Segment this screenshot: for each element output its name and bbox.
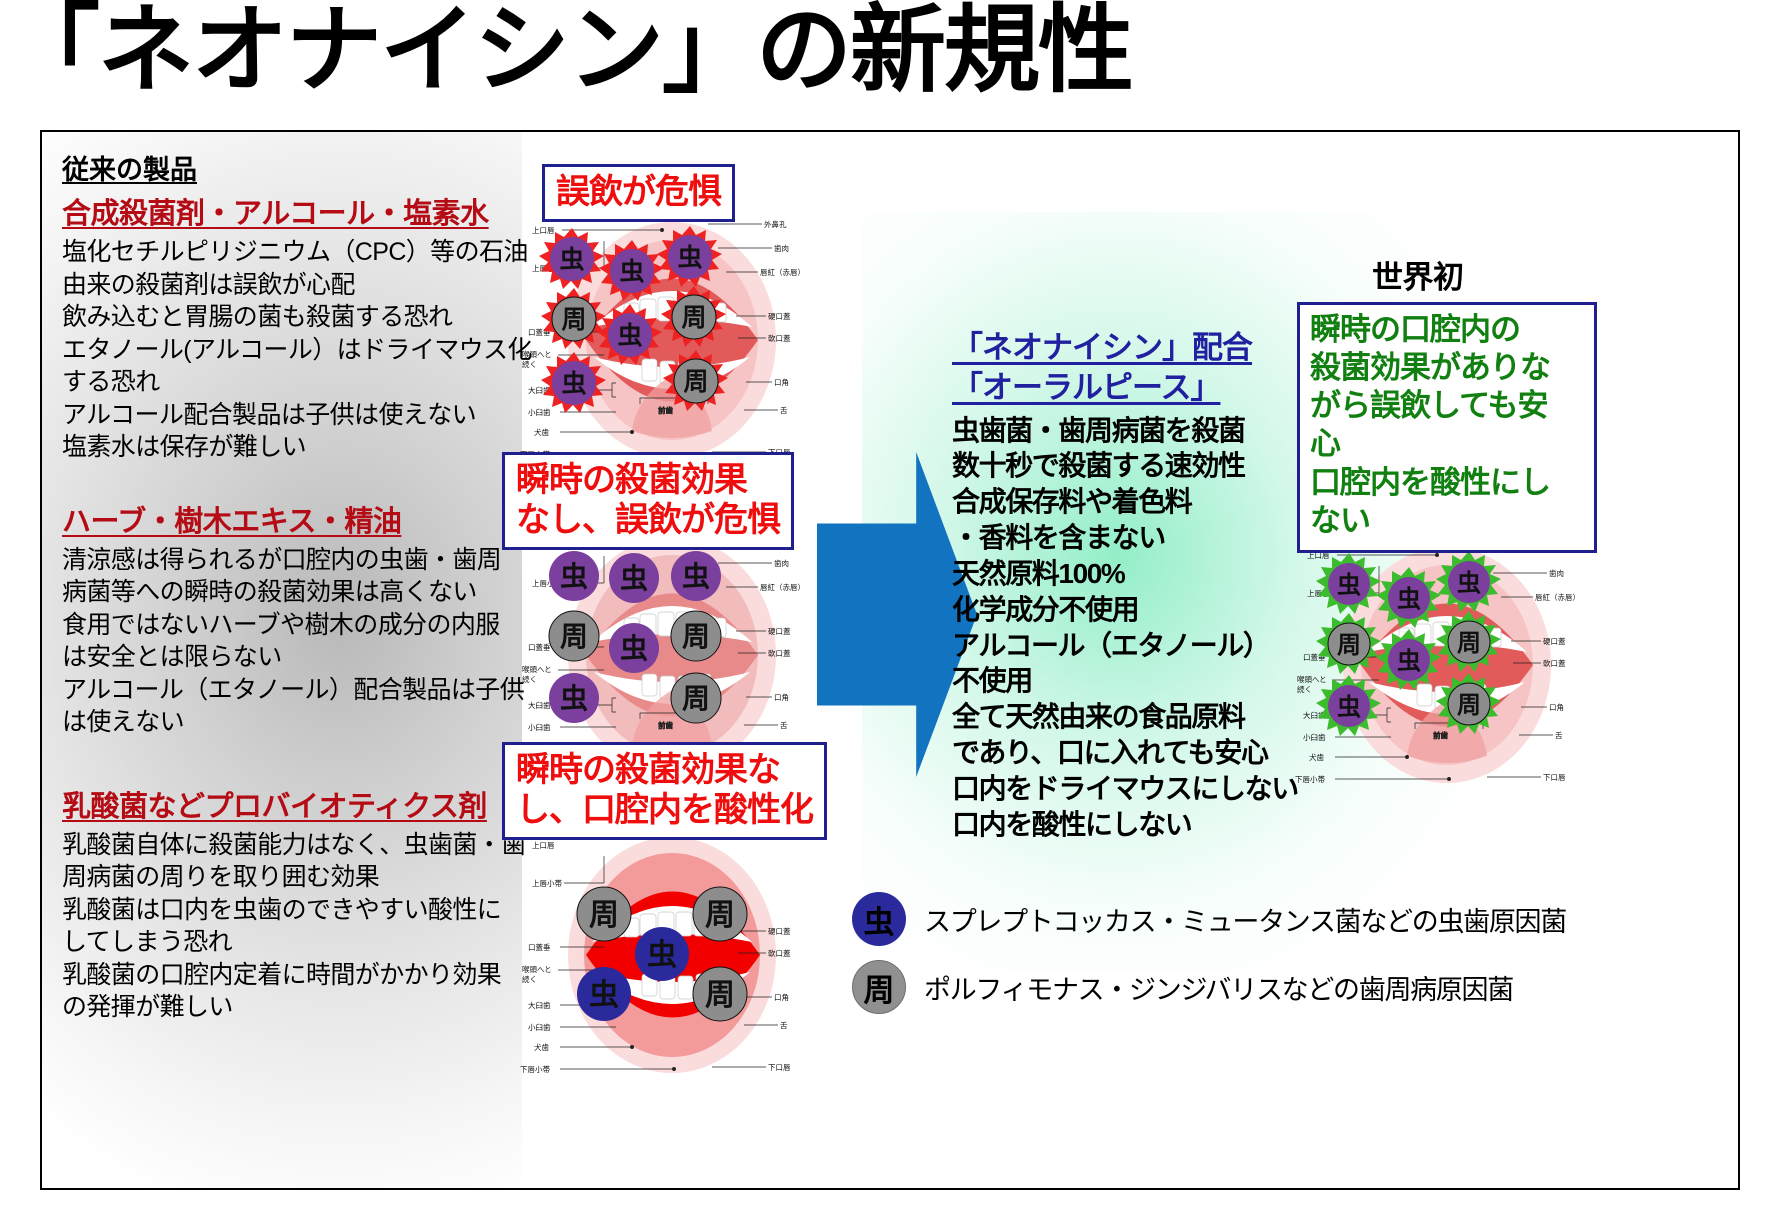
body-line: 乳酸菌は口内を虫歯のできやすい酸性に: [62, 894, 512, 927]
svg-text:硬口蓋: 硬口蓋: [768, 311, 791, 321]
svg-text:口角: 口角: [1549, 702, 1564, 712]
body-line: は安全とは限らない: [62, 641, 512, 674]
germ-shu: 周: [693, 887, 747, 941]
svg-text:唇紅（赤唇）: 唇紅（赤唇）: [760, 267, 802, 277]
svg-text:歯肉: 歯肉: [774, 558, 789, 568]
mouth-svg: 上口唇 上唇小帯 口蓋垂 喉頭へと 続く 大臼歯 小臼歯 犬歯 下唇小帯 外鼻孔…: [512, 207, 802, 472]
legend: 虫 スプレプトコッカス・ミュータンス菌などの虫歯原因菌 周 ポルフィモナス・ジン…: [852, 892, 1566, 1028]
body-line: してしまう恐れ: [62, 926, 512, 959]
svg-text:周: 周: [1337, 632, 1361, 659]
svg-text:小臼歯: 小臼歯: [528, 1022, 551, 1032]
conventional-products-column: 従来の製品 合成殺菌剤・アルコール・塩素水 塩化セチルピリジニウム（CPC）等の…: [62, 148, 512, 1024]
body-line: 瞬時の口腔内の: [1310, 311, 1586, 349]
svg-text:虫: 虫: [559, 246, 584, 274]
svg-text:下口唇: 下口唇: [1543, 773, 1566, 782]
body-line: 心: [1310, 425, 1586, 463]
svg-text:軟口蓋: 軟口蓋: [768, 648, 791, 658]
legend-label: ポルフィモナス・ジンジバリスなどの歯周病原因菌: [924, 968, 1513, 1007]
callout-no-instant-effect-ingestion-risk: 瞬時の殺菌効果 なし、誤飲が危惧: [502, 452, 794, 550]
body-line: 食用ではないハーブや樹木の成分の内服: [62, 609, 512, 642]
svg-text:周: 周: [681, 304, 706, 332]
svg-text:歯肉: 歯肉: [1549, 568, 1564, 578]
legend-item-shu: 周 ポルフィモナス・ジンジバリスなどの歯周病原因菌: [852, 960, 1566, 1014]
spacer: [62, 739, 512, 783]
svg-text:周: 周: [560, 621, 588, 652]
svg-text:口蓋垂: 口蓋垂: [528, 942, 551, 952]
svg-text:虫: 虫: [1337, 571, 1361, 599]
body-line: 清涼感は得られるが口腔内の虫歯・歯周: [62, 544, 512, 577]
group-body-probiotics: 乳酸菌自体に殺菌能力はなく、虫歯菌・歯 周病菌の周りを取り囲む効果 乳酸菌は口内…: [62, 829, 512, 1024]
svg-text:口角: 口角: [774, 992, 789, 1002]
diagram-conventional-chemical-mouth: 上口唇 上唇小帯 口蓋垂 喉頭へと 続く 大臼歯 小臼歯 犬歯 下唇小帯 外鼻孔…: [512, 207, 802, 472]
callout-line: 誤飲が危惧: [556, 172, 721, 212]
body-line: 乳酸菌の口腔内定着に時間がかかり効果: [62, 959, 512, 992]
svg-text:大臼歯: 大臼歯: [528, 1000, 551, 1010]
world-first-box: 瞬時の口腔内の 殺菌効果がありな がら誤飲しても安 心 口腔内を酸性にし ない: [1297, 302, 1597, 553]
svg-text:舌: 舌: [1555, 730, 1563, 740]
svg-text:虫: 虫: [1337, 693, 1361, 721]
body-line: アルコール（エタノール）: [952, 628, 1312, 664]
mushi-badge-icon: 虫: [852, 892, 906, 946]
body-line: 全て天然由来の食品原料: [952, 699, 1312, 735]
svg-text:続く: 続く: [522, 974, 537, 984]
body-line: 塩化セチルピリジニウム（CPC）等の石油: [62, 236, 512, 269]
product-header-line2: 「オーラルピース」: [952, 368, 1312, 408]
svg-text:軟口蓋: 軟口蓋: [768, 333, 791, 343]
body-line: がら誤飲しても安: [1310, 387, 1586, 425]
svg-text:犬歯: 犬歯: [534, 427, 549, 437]
germ-shu: 周: [549, 611, 599, 661]
body-line: 化学成分不使用: [952, 592, 1312, 628]
svg-text:軟口蓋: 軟口蓋: [1543, 658, 1566, 668]
mouth-svg: 上口唇 上唇小帯 口蓋垂 喉頭へと 続く 大臼歯 小臼歯 犬歯 下唇小帯 硬口蓋…: [512, 822, 802, 1087]
germ-shu: 周: [693, 967, 747, 1021]
body-line: 合成保存料や着色料: [952, 484, 1312, 520]
svg-text:軟口蓋: 軟口蓋: [768, 948, 791, 958]
svg-text:虫: 虫: [619, 258, 644, 286]
body-line: 病菌等への瞬時の殺菌効果は高くない: [62, 576, 512, 609]
svg-text:硬口蓋: 硬口蓋: [1543, 636, 1566, 646]
spacer: [62, 464, 512, 498]
germ-shu: 周: [671, 673, 721, 723]
body-line: アルコール配合製品は子供は使えない: [62, 399, 512, 432]
svg-text:舌: 舌: [780, 1020, 788, 1030]
mouth-svg: 上口唇 上唇小帯 口蓋垂 喉頭へと 続く 大臼歯 小臼歯 犬歯 下唇小帯 外鼻孔…: [1287, 532, 1577, 797]
svg-text:虫: 虫: [620, 563, 648, 594]
svg-text:続く: 続く: [522, 359, 537, 369]
product-benefits: 虫歯菌・歯周病菌を殺菌 数十秒で殺菌する速効性 合成保存料や着色料 ・香料を含ま…: [952, 413, 1312, 843]
legend-item-mushi: 虫 スプレプトコッカス・ミュータンス菌などの虫歯原因菌: [852, 892, 1566, 946]
svg-text:上口唇: 上口唇: [532, 841, 555, 850]
world-first-benefits: 瞬時の口腔内の 殺菌効果がありな がら誤飲しても安 心 口腔内を酸性にし ない: [1310, 311, 1586, 540]
callout-line: し、口腔内を酸性化: [516, 790, 813, 830]
svg-text:大臼歯: 大臼歯: [528, 700, 551, 710]
germ-shu: 周: [577, 887, 631, 941]
svg-text:周: 周: [705, 899, 735, 932]
svg-text:周: 周: [1457, 692, 1481, 719]
svg-text:唇紅（赤唇）: 唇紅（赤唇）: [760, 582, 802, 592]
body-line: 虫歯菌・歯周病菌を殺菌: [952, 413, 1312, 449]
svg-text:虫: 虫: [677, 244, 702, 272]
svg-text:口角: 口角: [774, 377, 789, 387]
svg-text:舌: 舌: [780, 405, 788, 415]
body-line: 天然原料100%: [952, 556, 1312, 592]
svg-text:上口唇: 上口唇: [532, 226, 555, 235]
body-line: 口内をドライマウスにしない: [952, 771, 1312, 807]
conventional-section-header: 従来の製品: [62, 148, 512, 187]
svg-text:歯肉: 歯肉: [774, 243, 789, 253]
svg-text:下口唇: 下口唇: [768, 1063, 791, 1072]
world-first-label: 世界初: [1372, 252, 1464, 297]
callout-ingestion-risk: 誤飲が危惧: [542, 164, 735, 222]
svg-text:硬口蓋: 硬口蓋: [768, 926, 791, 936]
germ-mushi: 虫: [577, 967, 631, 1021]
group-body-synthetic: 塩化セチルピリジニウム（CPC）等の石油 由来の殺菌剤は誤飲が心配 飲み込むと胃…: [62, 236, 512, 464]
svg-text:上唇小帯: 上唇小帯: [532, 878, 562, 888]
svg-text:前歯: 前歯: [658, 405, 673, 415]
svg-text:虫: 虫: [561, 370, 586, 398]
shu-badge-icon: 周: [852, 960, 906, 1014]
svg-text:口角: 口角: [774, 692, 789, 702]
body-line: 不使用: [952, 663, 1312, 699]
group-heading-herb: ハーブ・樹木エキス・精油: [62, 498, 512, 540]
product-header-line1: 「ネオナイシン」配合: [952, 328, 1312, 368]
body-line: 数十秒で殺菌する速効性: [952, 448, 1312, 484]
svg-text:小臼歯: 小臼歯: [528, 407, 551, 417]
svg-text:喉頭へと: 喉頭へと: [522, 664, 552, 674]
svg-text:口蓋垂: 口蓋垂: [528, 642, 551, 652]
svg-text:前歯: 前歯: [1433, 730, 1449, 740]
svg-text:虫: 虫: [1457, 569, 1481, 597]
body-line: であり、口に入れても安心: [952, 735, 1312, 771]
svg-text:虫: 虫: [647, 939, 677, 972]
svg-text:虫: 虫: [682, 561, 710, 592]
page-title: 「ネオナイシン」の新規性: [4, 0, 1132, 107]
germ-shu: 周: [671, 611, 721, 661]
body-line: の発揮が難しい: [62, 991, 512, 1024]
svg-text:前歯: 前歯: [658, 720, 673, 730]
svg-text:周: 周: [589, 899, 619, 932]
neonisin-product-column: 「ネオナイシン」配合 「オーラルピース」 虫歯菌・歯周病菌を殺菌 数十秒で殺菌す…: [952, 328, 1312, 843]
svg-text:外鼻孔: 外鼻孔: [764, 219, 787, 229]
callout-line: 瞬時の殺菌効果な: [516, 750, 813, 790]
body-line: 口内を酸性にしない: [952, 807, 1312, 843]
group-heading-probiotics: 乳酸菌などプロバイオティクス剤: [62, 783, 512, 825]
content-frame: 従来の製品 合成殺菌剤・アルコール・塩素水 塩化セチルピリジニウム（CPC）等の…: [40, 130, 1740, 1190]
svg-text:周: 周: [682, 621, 710, 652]
diagram-probiotics-mouth: 上口唇 上唇小帯 口蓋垂 喉頭へと 続く 大臼歯 小臼歯 犬歯 下唇小帯 硬口蓋…: [512, 822, 802, 1087]
svg-text:虫: 虫: [589, 979, 619, 1012]
svg-text:虫: 虫: [617, 322, 642, 350]
svg-text:周: 周: [561, 306, 586, 334]
svg-text:硬口蓋: 硬口蓋: [768, 626, 791, 636]
body-line: 殺菌効果がありな: [1310, 349, 1586, 387]
germ-mushi: 虫: [609, 623, 659, 673]
diagram-neonisin-mouth: 上口唇 上唇小帯 口蓋垂 喉頭へと 続く 大臼歯 小臼歯 犬歯 下唇小帯 外鼻孔…: [1287, 532, 1577, 797]
svg-text:虫: 虫: [1397, 585, 1421, 613]
germ-mushi: 虫: [635, 927, 689, 981]
svg-text:下唇小帯: 下唇小帯: [520, 1064, 550, 1074]
body-line: 飲み込むと胃腸の菌も殺菌する恐れ: [62, 301, 512, 334]
germ-mushi: 虫: [671, 551, 721, 601]
body-line: する恐れ: [62, 366, 512, 399]
svg-text:周: 周: [1457, 630, 1481, 657]
legend-label: スプレプトコッカス・ミュータンス菌などの虫歯原因菌: [924, 900, 1566, 939]
svg-text:舌: 舌: [780, 720, 788, 730]
body-line: 乳酸菌自体に殺菌能力はなく、虫歯菌・歯: [62, 829, 512, 862]
body-line: は使えない: [62, 706, 512, 739]
svg-text:犬歯: 犬歯: [534, 1042, 549, 1052]
callout-line: 瞬時の殺菌効果: [516, 460, 780, 500]
svg-text:周: 周: [705, 979, 735, 1012]
body-line: ・香料を含まない: [952, 520, 1312, 556]
body-line: 由来の殺菌剤は誤飲が心配: [62, 269, 512, 302]
svg-text:周: 周: [682, 683, 710, 714]
svg-text:喉頭へと: 喉頭へと: [522, 964, 552, 974]
body-line: ない: [1310, 502, 1586, 540]
body-line: 塩素水は保存が難しい: [62, 431, 512, 464]
germ-mushi: 虫: [609, 553, 659, 603]
svg-text:小臼歯: 小臼歯: [528, 722, 551, 732]
svg-text:続く: 続く: [522, 674, 537, 684]
svg-text:虫: 虫: [560, 561, 588, 592]
group-heading-synthetic: 合成殺菌剤・アルコール・塩素水: [62, 190, 512, 232]
body-line: エタノール(アルコール）はドライマウス化: [62, 334, 512, 367]
svg-text:虫: 虫: [1397, 647, 1421, 675]
group-body-herb: 清涼感は得られるが口腔内の虫歯・歯周 病菌等への瞬時の殺菌効果は高くない 食用で…: [62, 544, 512, 739]
body-line: アルコール（エタノール）配合製品は子供: [62, 674, 512, 707]
callout-no-instant-effect-acidifies: 瞬時の殺菌効果な し、口腔内を酸性化: [502, 742, 827, 840]
body-line: 口腔内を酸性にし: [1310, 464, 1586, 502]
svg-text:周: 周: [683, 368, 708, 396]
svg-text:唇紅（赤唇）: 唇紅（赤唇）: [1535, 592, 1577, 602]
svg-text:虫: 虫: [560, 683, 588, 714]
germ-mushi: 虫: [549, 673, 599, 723]
germ-mushi: 虫: [549, 551, 599, 601]
body-line: 周病菌の周りを取り囲む効果: [62, 861, 512, 894]
svg-text:虫: 虫: [620, 633, 648, 664]
callout-line: なし、誤飲が危惧: [516, 500, 780, 540]
svg-text:喉頭へと: 喉頭へと: [522, 349, 552, 359]
